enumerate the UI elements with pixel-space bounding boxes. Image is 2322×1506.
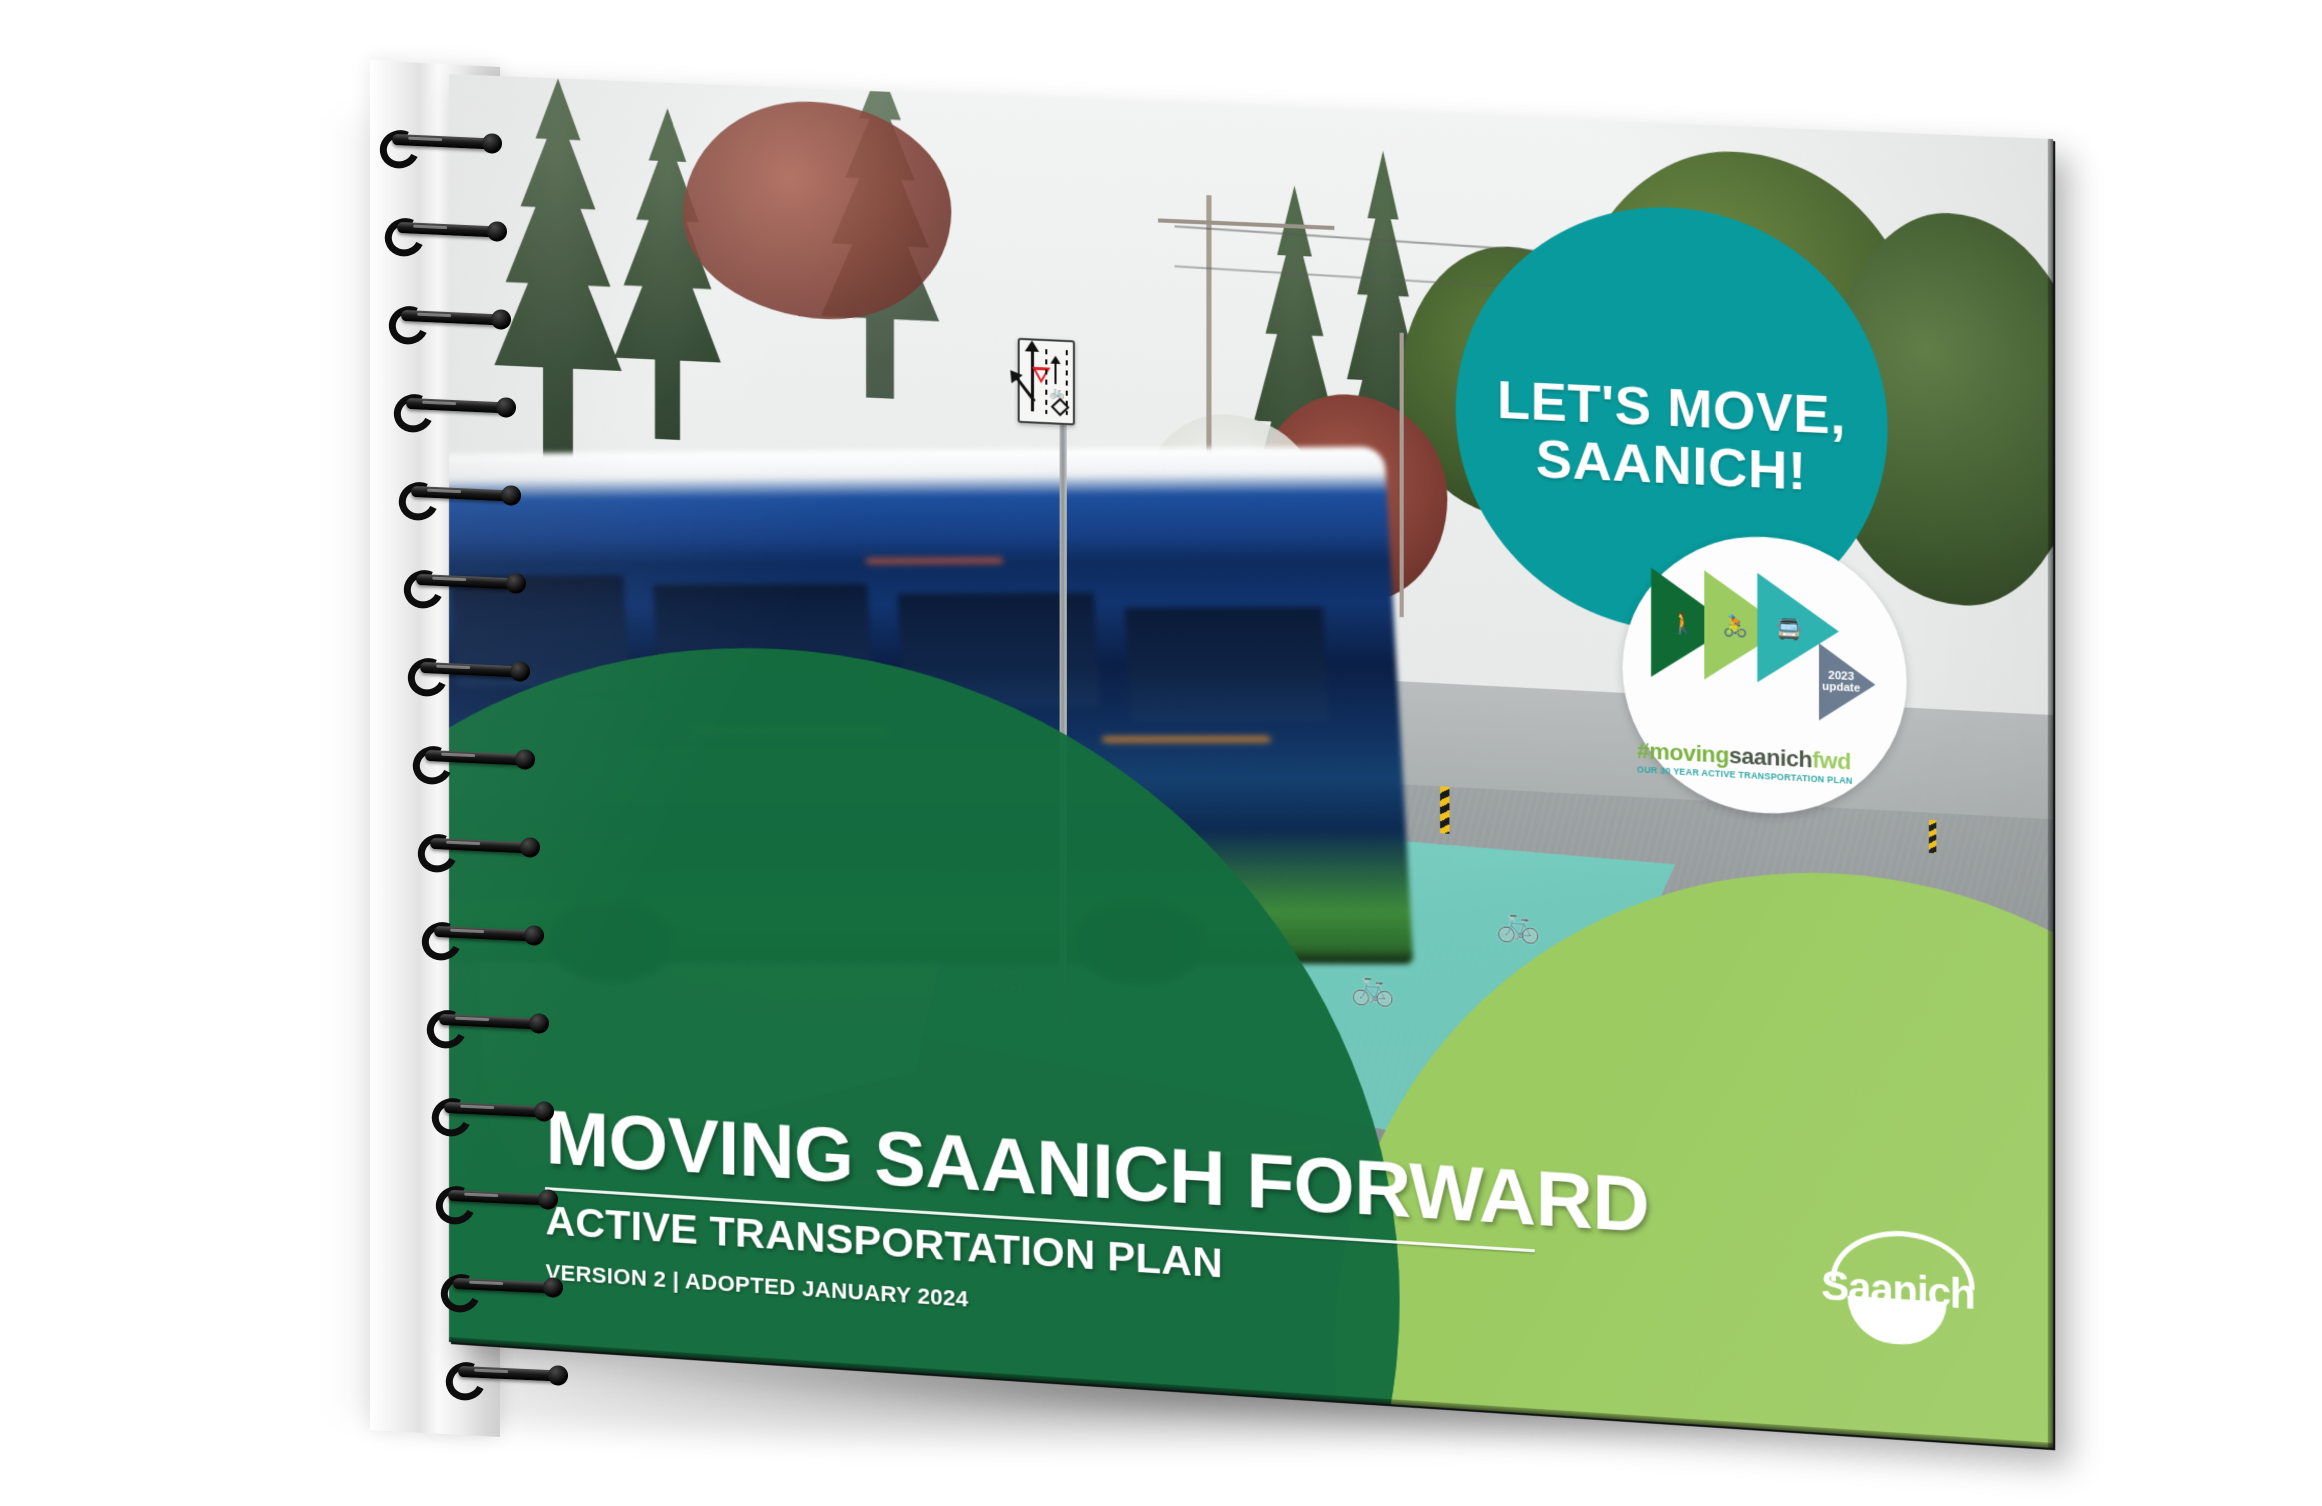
bicycle-stencil: 🚲 — [1351, 969, 1395, 1006]
bicycle-icon: 🚲 — [1050, 386, 1065, 399]
report-cover: 🚲 🚲 🚲 🚲 🚲 — [449, 74, 2053, 1448]
spiral-coil-loop — [424, 1005, 545, 1040]
update-chevron-icon: 2023 update — [1819, 643, 1876, 724]
screenshot-canvas: 🚲 🚲 🚲 🚲 🚲 — [0, 0, 2322, 1506]
spiral-coil-loop — [420, 917, 541, 952]
spiral-coil-loop — [438, 1269, 559, 1304]
wordmark-fwd: fwd — [1812, 747, 1851, 775]
bike-lane-arrow-icon — [1055, 362, 1057, 384]
spiral-coil-loop — [382, 213, 503, 248]
spiral-coil-loop — [401, 565, 522, 600]
cyclist-icon: 🚴 — [1723, 616, 1749, 638]
spiral-coil-loop — [415, 829, 536, 864]
spiral-coil-loop — [410, 741, 531, 776]
spiral-coil-loop — [429, 1093, 550, 1128]
lane-dash-line — [1046, 350, 1048, 415]
logo-wordmark: Saanich — [1818, 1263, 1977, 1319]
spiral-coil-loop — [434, 1181, 555, 1216]
utility-pole — [1399, 332, 1403, 617]
spiral-coil-loop — [391, 389, 512, 424]
motion-streak — [1102, 737, 1271, 742]
bus-icon: 🚍 — [1776, 618, 1802, 640]
update-badge-text: 2023 update — [1822, 670, 1860, 696]
spiral-coil-loop — [387, 301, 508, 336]
spiral-coil-loop — [406, 653, 527, 688]
saanich-municipal-logo: Saanich — [1818, 1224, 1977, 1349]
bus-window — [1125, 607, 1330, 721]
update-word: update — [1822, 681, 1860, 695]
cover-right-edge — [2048, 139, 2053, 1448]
motion-streak — [866, 557, 1004, 563]
coil-tip — [505, 573, 526, 594]
hazard-marker — [1440, 787, 1449, 834]
hazard-marker — [1929, 820, 1936, 853]
pedestrians-icon: 🚶 — [1670, 613, 1696, 635]
bicycle-stencil: 🚲 — [1496, 906, 1540, 943]
spiral-coil-loop — [396, 477, 517, 512]
cover-artboard: 🚲 🚲 🚲 🚲 🚲 — [449, 74, 2053, 1448]
spiral-coil-loop — [377, 125, 498, 160]
callout-text: LET'S MOVE, SAANICH! — [1497, 372, 1846, 503]
lane-use-traffic-sign: 🚲 — [1018, 338, 1075, 426]
yield-triangle-icon — [1032, 367, 1050, 384]
campaign-chevron-mark: 🚶 🚴 🚍 2023 update — [1651, 564, 1878, 752]
spiral-coil-loop — [443, 1357, 564, 1392]
